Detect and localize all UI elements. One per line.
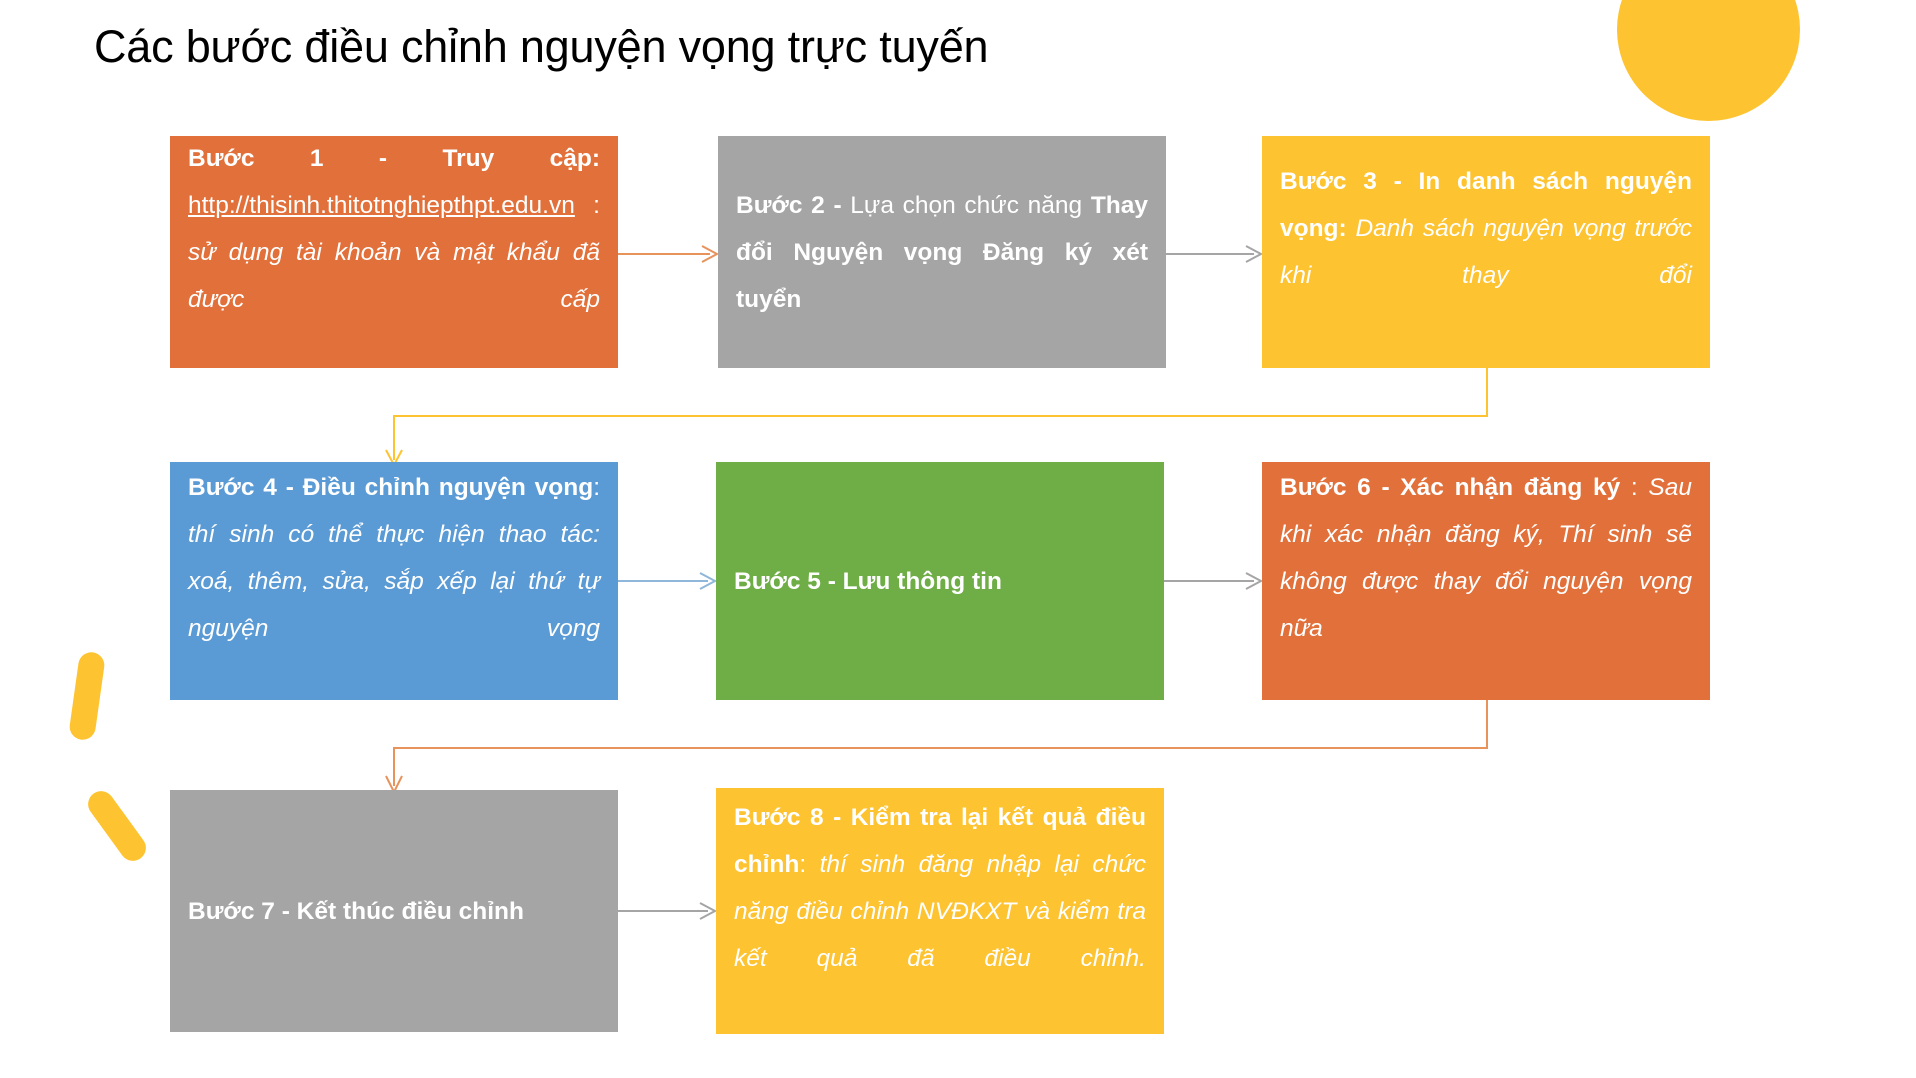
step-box-4[interactable]: Bước 4 - Điều chỉnh nguyện vọng: thí sin…: [170, 462, 618, 700]
step-6-separator: :: [1620, 474, 1648, 501]
connector-step2-step3: [1166, 238, 1264, 270]
step-1-body: sử dụng tài khoản và mật khẩu đã được cấ…: [188, 239, 600, 313]
step-7-text: Bước 7 - Kết thúc điều chỉnh: [170, 888, 618, 935]
decorative-stroke-upper: [68, 651, 106, 742]
step-8-title: Bước 8 -: [734, 804, 851, 831]
slide-canvas: Các bước điều chỉnh nguyện vọng trực tuy…: [0, 0, 1916, 1078]
step-4-text: Bước 4 - Điều chỉnh nguyện vọng: thí sin…: [170, 464, 618, 699]
step-8-text: Bước 8 - Kiểm tra lại kết quả điều chỉnh…: [716, 794, 1164, 1029]
decorative-stroke-lower: [83, 786, 151, 866]
step-2-title: Bước 2 -: [736, 192, 850, 219]
step-2-text: Bước 2 - Lựa chọn chức năng Thay đổi Ngu…: [718, 182, 1166, 323]
step-box-8[interactable]: Bước 8 - Kiểm tra lại kết quả điều chỉnh…: [716, 788, 1164, 1034]
step-5-title: Bước 5 - Lưu thông tin: [734, 568, 1002, 595]
step-1-separator: :: [575, 192, 600, 219]
page-title: Các bước điều chỉnh nguyện vọng trực tuy…: [94, 16, 988, 78]
step-7-title: Bước 7 - Kết thúc điều chỉnh: [188, 898, 524, 925]
connector-step1-step2: [618, 238, 720, 270]
step-box-5[interactable]: Bước 5 - Lưu thông tin: [716, 462, 1164, 700]
step-box-1[interactable]: Bước 1 - Truy cập: http://thisinh.thitot…: [170, 136, 618, 368]
step-box-3[interactable]: Bước 3 - In danh sách nguyện vọng: Danh …: [1262, 136, 1710, 368]
step-box-7[interactable]: Bước 7 - Kết thúc điều chỉnh: [170, 790, 618, 1032]
decorative-circle: [1617, 0, 1800, 121]
connector-step3-step4: [392, 368, 1492, 468]
step-5-text: Bước 5 - Lưu thông tin: [716, 558, 1164, 605]
step-1-text: Bước 1 - Truy cập: http://thisinh.thitot…: [170, 135, 618, 370]
connector-step5-step6: [1164, 565, 1264, 597]
step-8-separator: :: [799, 851, 819, 878]
connector-step7-step8: [618, 895, 718, 927]
step-6-title: Bước 6 - Xác nhận đăng ký: [1280, 474, 1620, 501]
step-1-link[interactable]: http://thisinh.thitotnghiepthpt.edu.vn: [188, 192, 575, 219]
step-4-body: thí sinh có thể thực hiện thao tác: xoá,…: [188, 521, 600, 642]
connector-step4-step5: [618, 565, 718, 597]
step-4-title: Bước 4 - Điều chỉnh nguyện vọng: [188, 474, 593, 501]
step-1-title: Bước 1 - Truy cập:: [188, 145, 600, 172]
step-box-6[interactable]: Bước 6 - Xác nhận đăng ký : Sau khi xác …: [1262, 462, 1710, 700]
step-2-body: Lựa chọn chức năng: [850, 192, 1091, 219]
step-4-separator: :: [593, 474, 600, 501]
step-box-2[interactable]: Bước 2 - Lựa chọn chức năng Thay đổi Ngu…: [718, 136, 1166, 368]
step-6-text: Bước 6 - Xác nhận đăng ký : Sau khi xác …: [1262, 464, 1710, 699]
connector-step6-step7: [392, 700, 1492, 800]
step-3-text: Bước 3 - In danh sách nguyện vọng: Danh …: [1262, 158, 1710, 346]
